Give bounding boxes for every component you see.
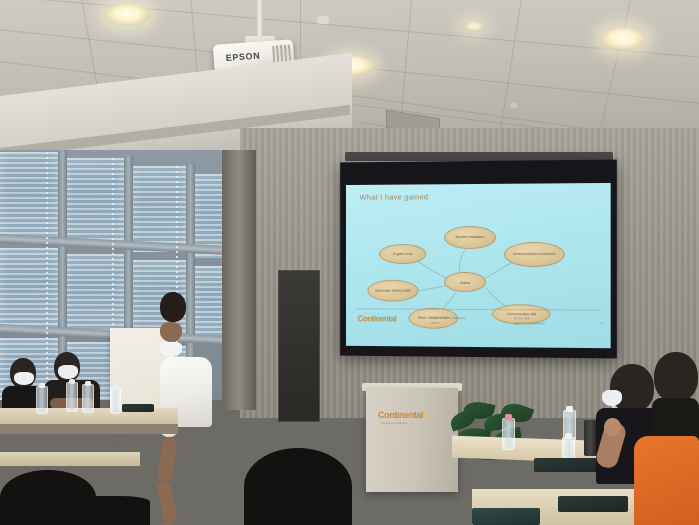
slide-footer-classification: Internal for Society Information (430, 317, 490, 321)
projector-brand-label: EPSON (225, 51, 260, 63)
presenter-arm-left (157, 436, 179, 482)
water-bottle (110, 388, 121, 414)
conference-room-photo: EPSON (0, 0, 699, 525)
foreground-head-1 (244, 448, 352, 525)
doorway (278, 270, 320, 422)
bottle-cap (565, 433, 572, 439)
continental-logo-podium: Continental (378, 410, 423, 420)
mindmap-node-systematic-thinking: Systematic thinking skills (367, 280, 418, 302)
presentation-slide: What I have gained Gains Machine install… (346, 183, 611, 348)
notebook-cover (472, 508, 540, 525)
sprinkler-head-icon (510, 103, 517, 108)
podium-tagline: The Future in Motion (380, 421, 408, 425)
audience-member-right-3-orange (634, 436, 699, 525)
smoke-detector-icon (317, 16, 329, 24)
presenter (160, 292, 232, 482)
continental-logo-slide: Continental (358, 314, 397, 323)
presenter-face (160, 322, 182, 342)
water-bottle (66, 382, 78, 412)
podium: Continental The Future in Motion (366, 388, 458, 492)
window-pane (0, 152, 58, 240)
presenter-head (160, 292, 186, 322)
slide-footer-copyright: Slide 6 / © Continental AG (514, 322, 544, 326)
ceiling-downlight (464, 22, 484, 31)
ceiling-downlight (600, 28, 646, 50)
mindmap-node-production-procedures: Know production procedures (504, 242, 565, 267)
slide-page-number: 6 (601, 321, 603, 325)
window-pane (0, 248, 58, 330)
slide-footer-date: 30 June 2020 (514, 317, 530, 321)
foreground-shoulder (0, 496, 150, 525)
notebook (558, 496, 628, 512)
notebook (122, 404, 154, 412)
mindmap-connector-lines (346, 183, 611, 348)
bottle-cap (85, 381, 91, 386)
audience-head (654, 352, 698, 402)
mindmap-node-center: Gains (444, 272, 486, 292)
bottle-cap (39, 383, 45, 388)
window-pane (66, 158, 124, 246)
mindmap-node-english-level: English Level (379, 244, 426, 264)
projector-mount-pole (257, 0, 263, 40)
audience-torso-orange (634, 436, 699, 525)
water-bottle (82, 384, 94, 413)
presenter-arm-right (156, 480, 178, 524)
bottle-cap (566, 406, 573, 412)
notebook (534, 458, 600, 472)
audience-hand (604, 418, 621, 436)
window-pane (66, 254, 124, 334)
water-bottle (502, 418, 515, 450)
face-mask-icon (160, 342, 182, 357)
face-mask-icon (14, 372, 34, 385)
bottle-cap (69, 379, 75, 384)
water-bottle (36, 386, 48, 414)
bottle-cap (505, 414, 512, 420)
ceiling-downlight (104, 4, 150, 26)
slide-footer-classification-line2: Internal (430, 322, 439, 326)
left-table-edge (0, 424, 178, 434)
projection-screen: What I have gained Gains Machine install… (340, 160, 617, 359)
face-mask-icon (58, 365, 78, 379)
bottle-cap (113, 385, 119, 390)
face-mask-icon (602, 390, 622, 406)
second-row-table (0, 452, 140, 466)
mindmap-node-machine-installation: Machine installation (444, 226, 496, 249)
